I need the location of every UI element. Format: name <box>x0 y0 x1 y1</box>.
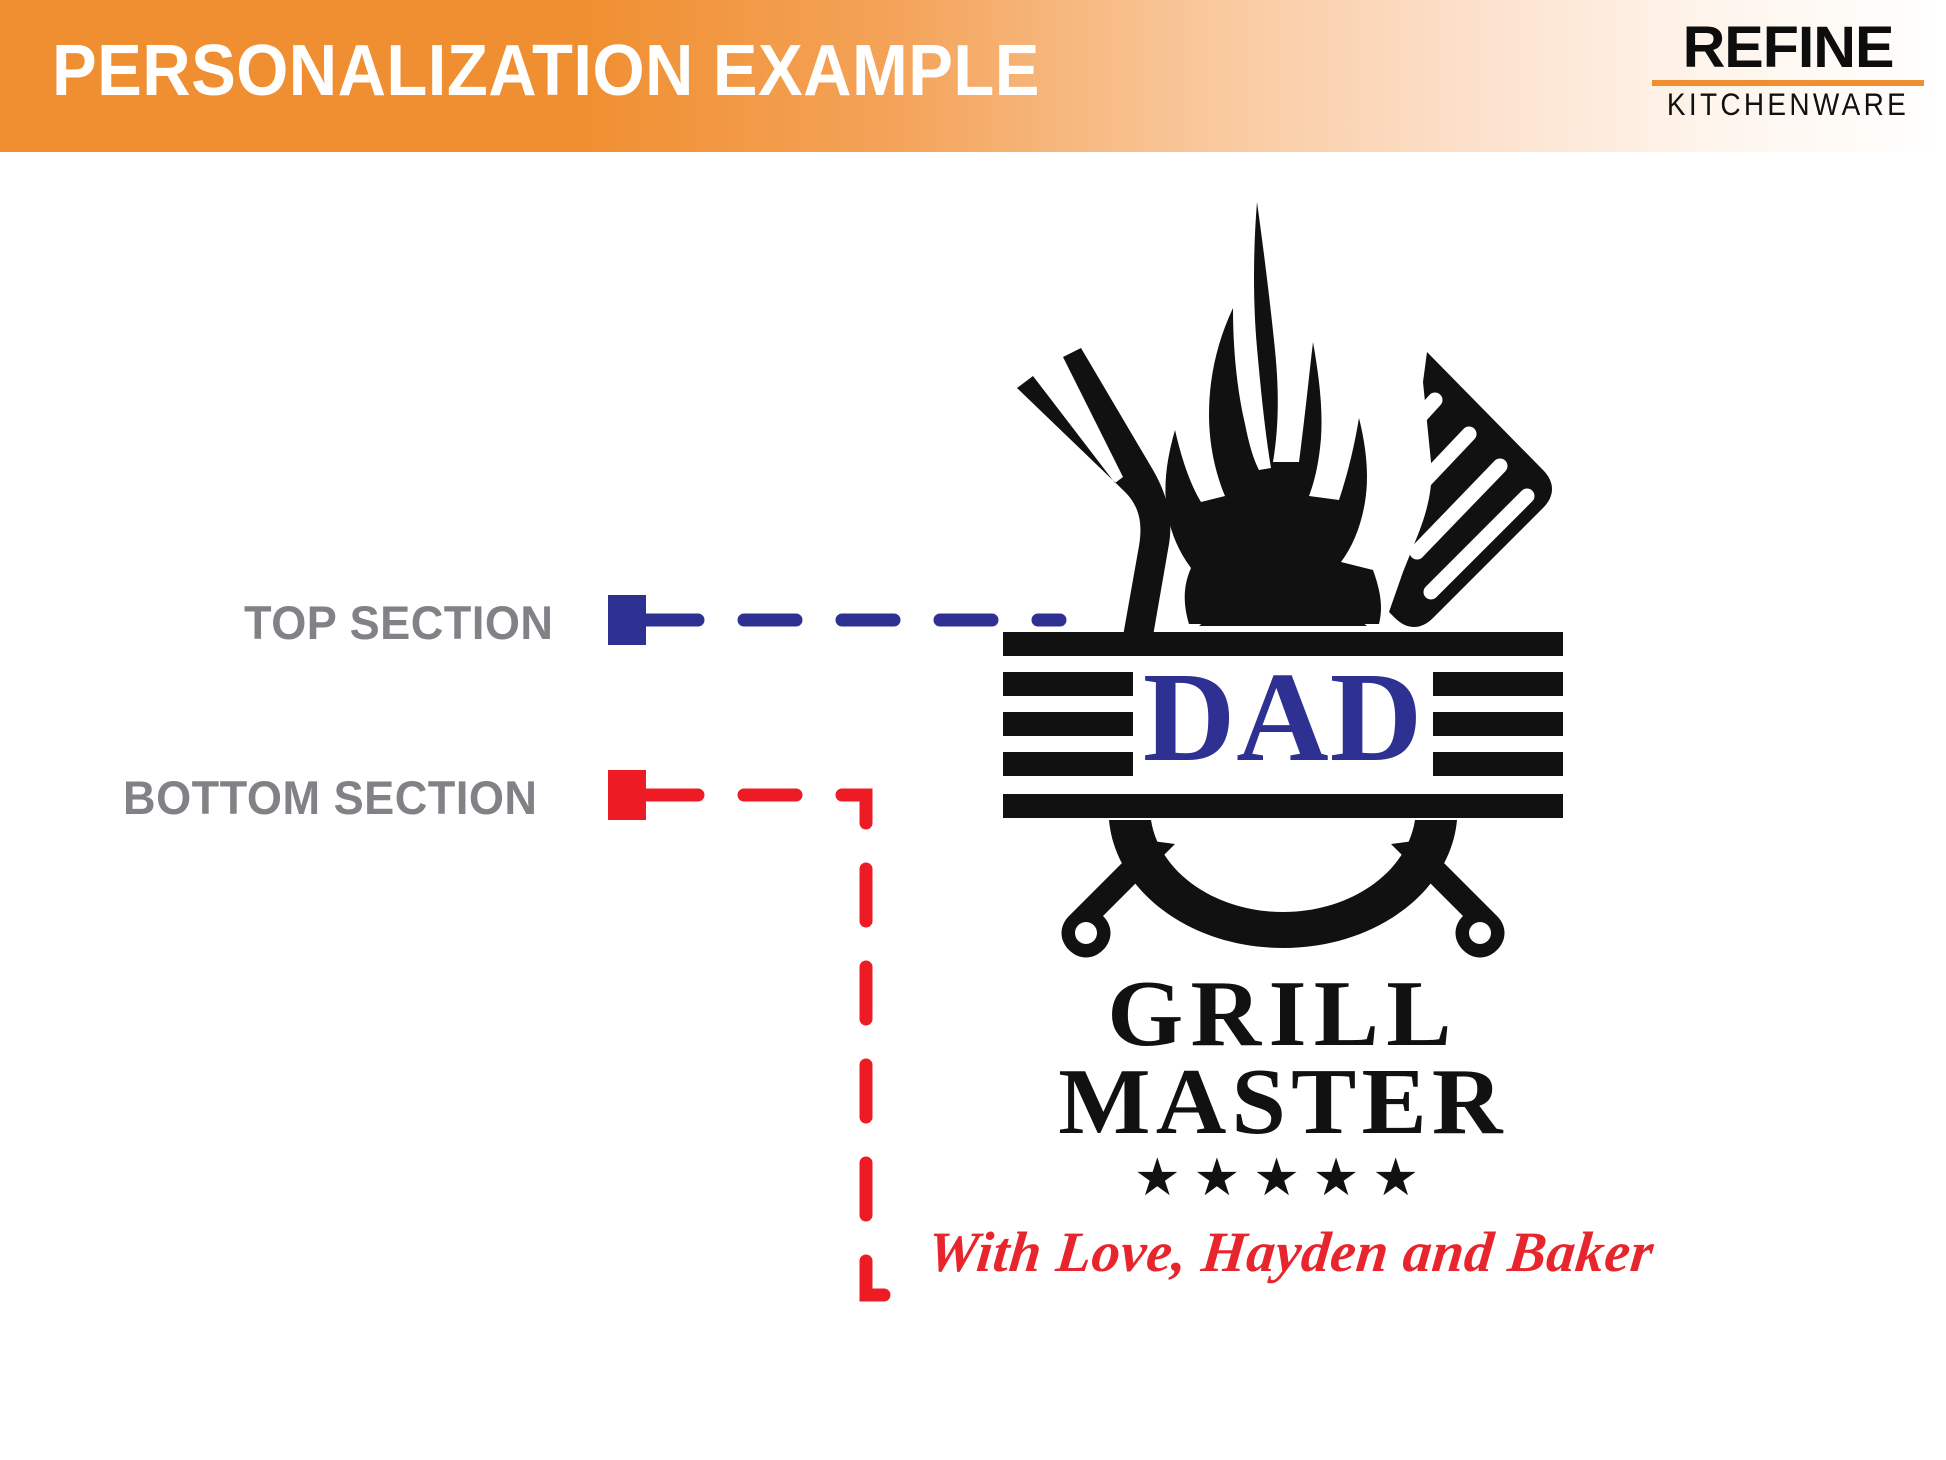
callout-label-bottom-section: BOTTOM SECTION <box>123 770 537 825</box>
personalized-bottom-text: With Love, Hayden and Baker <box>925 1220 1642 1285</box>
logo-word-master: MASTER <box>992 1055 1574 1149</box>
callout-marker-bottom-section <box>608 770 646 820</box>
connector-line-bottom-section <box>646 795 920 1295</box>
page-title: PERSONALIZATION EXAMPLE <box>52 30 1040 112</box>
brand-name: REFINE <box>1649 20 1926 76</box>
bbq-grill-flame-fork-spatula-icon: DAD <box>1003 200 1563 1060</box>
callout-label-top-section: TOP SECTION <box>244 595 553 650</box>
product-logo: DAD GRILL MASTER ★★★★★ With Love, Hayden… <box>1003 200 1563 1310</box>
callout-marker-top-section <box>608 595 646 645</box>
brand-subtitle: KITCHENWARE <box>1652 87 1924 123</box>
brand-logo: REFINE KITCHENWARE <box>1652 20 1924 121</box>
five-star-rating-icons: ★★★★★ <box>1003 1152 1563 1204</box>
personalized-top-text: DAD <box>1143 646 1423 788</box>
logo-word-grill: GRILL <box>992 967 1574 1061</box>
slide-canvas: PERSONALIZATION EXAMPLE REFINE KITCHENWA… <box>0 0 1946 1460</box>
brand-divider <box>1652 80 1924 86</box>
